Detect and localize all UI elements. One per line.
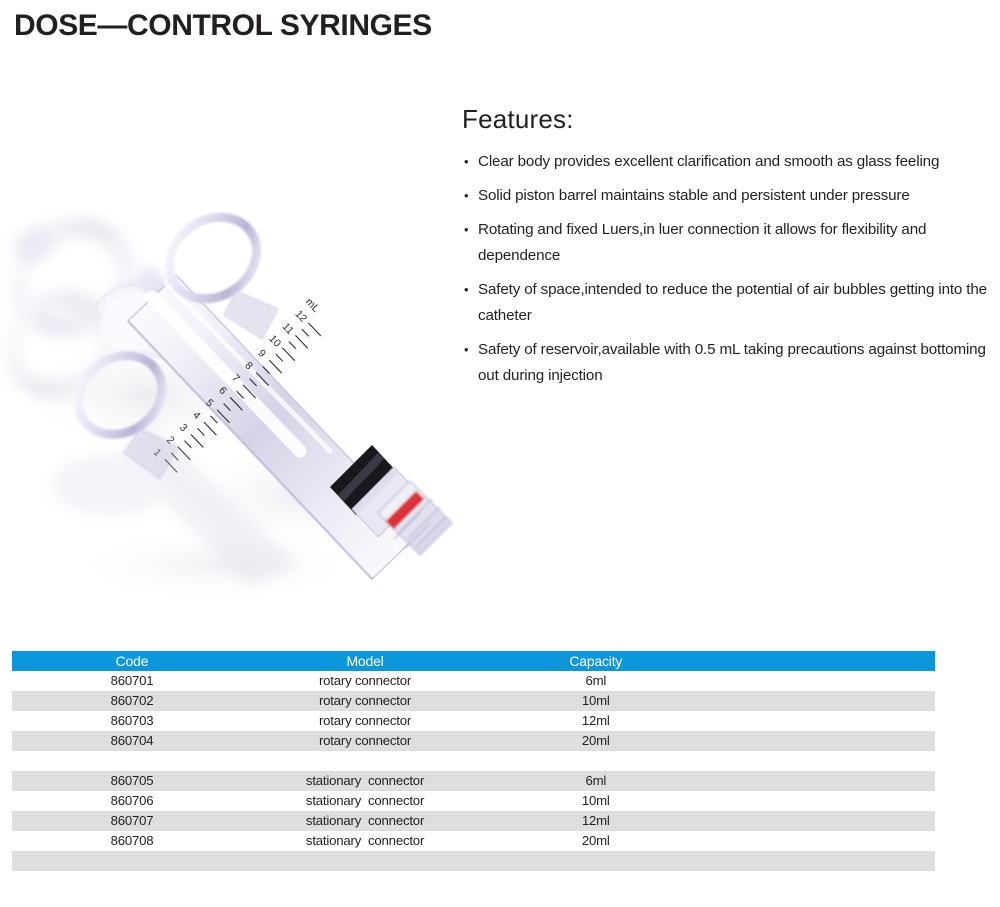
cell-pad (713, 711, 935, 731)
feature-item: • Clear body provides excellent clarific… (458, 149, 993, 175)
cell-capacity: 10ml (478, 691, 713, 711)
cell-model: rotary connector (252, 711, 478, 731)
cell-capacity: 20ml (478, 731, 713, 751)
table-footer-row (12, 851, 935, 871)
cell-code: 860705 (12, 771, 252, 791)
cell-code: 860707 (12, 811, 252, 831)
cell-model: rotary connector (252, 691, 478, 711)
svg-text:11: 11 (280, 321, 296, 337)
cell-pad (713, 831, 935, 851)
cell-model: stationary connector (252, 811, 478, 831)
cell-capacity: 6ml (478, 771, 713, 791)
cell-code: 860701 (12, 671, 252, 691)
table-row[interactable]: 860707 stationary connector 12ml (12, 811, 935, 831)
feature-item: • Rotating and fixed Luers,in luer conne… (458, 217, 993, 269)
cell-pad (713, 731, 935, 751)
cell-capacity: 12ml (478, 711, 713, 731)
cell-model: rotary connector (252, 671, 478, 691)
cell-capacity: 10ml (478, 791, 713, 811)
column-header-pad (713, 651, 935, 671)
cell-pad (713, 791, 935, 811)
cell-model: rotary connector (252, 731, 478, 751)
bullet-icon: • (464, 277, 468, 303)
cell-code: 860703 (12, 711, 252, 731)
product-image: mL 12 11 10 9 8 7 6 5 4 3 2 1 (0, 95, 460, 595)
cell-code: 860704 (12, 731, 252, 751)
feature-text: Safety of space,intended to reduce the p… (478, 281, 987, 324)
table-row[interactable]: 860703 rotary connector 12ml (12, 711, 935, 731)
features-section: Features: • Clear body provides excellen… (458, 104, 993, 397)
cell-code: 860706 (12, 791, 252, 811)
bullet-icon: • (464, 149, 468, 175)
svg-text:12: 12 (292, 308, 309, 325)
table-group-separator (12, 751, 935, 771)
features-heading: Features: (462, 104, 993, 135)
table-row[interactable]: 860704 rotary connector 20ml (12, 731, 935, 751)
cell-pad (713, 771, 935, 791)
cell-capacity: 20ml (478, 831, 713, 851)
feature-text: Clear body provides excellent clarificat… (478, 153, 939, 170)
column-header-capacity: Capacity (478, 651, 713, 671)
feature-text: Rotating and fixed Luers,in luer connect… (478, 221, 926, 264)
table-row[interactable]: 860701 rotary connector 6ml (12, 671, 935, 691)
cell-model: stationary connector (252, 831, 478, 851)
table-row[interactable]: 860706 stationary connector 10ml (12, 791, 935, 811)
feature-text: Safety of reservoir,available with 0.5 m… (478, 341, 986, 384)
svg-text:9: 9 (255, 347, 268, 360)
spec-table: Code Model Capacity 860701 rotary connec… (12, 651, 935, 871)
cell-pad (713, 671, 935, 691)
table-row[interactable]: 860705 stationary connector 6ml (12, 771, 935, 791)
column-header-model: Model (252, 651, 478, 671)
cell-code: 860708 (12, 831, 252, 851)
feature-item: • Solid piston barrel maintains stable a… (458, 183, 993, 209)
syringe-illustration: mL 12 11 10 9 8 7 6 5 4 3 2 1 (0, 95, 460, 595)
svg-text:10: 10 (266, 333, 283, 350)
table-header-row: Code Model Capacity (12, 651, 935, 671)
bullet-icon: • (464, 217, 468, 243)
column-header-code: Code (12, 651, 252, 671)
table-row[interactable]: 860708 stationary connector 20ml (12, 831, 935, 851)
cell-pad (713, 811, 935, 831)
bullet-icon: • (464, 337, 468, 363)
cell-model: stationary connector (252, 791, 478, 811)
cell-model: stationary connector (252, 771, 478, 791)
cell-capacity: 12ml (478, 811, 713, 831)
bullet-icon: • (464, 183, 468, 209)
feature-item: • Safety of reservoir,available with 0.5… (458, 337, 993, 389)
feature-text: Solid piston barrel maintains stable and… (478, 187, 910, 204)
page-title: DOSE—CONTROL SYRINGES (14, 9, 432, 43)
cell-pad (713, 691, 935, 711)
cell-capacity: 6ml (478, 671, 713, 691)
cell-code: 860702 (12, 691, 252, 711)
table-row[interactable]: 860702 rotary connector 10ml (12, 691, 935, 711)
feature-item: • Safety of space,intended to reduce the… (458, 277, 993, 329)
